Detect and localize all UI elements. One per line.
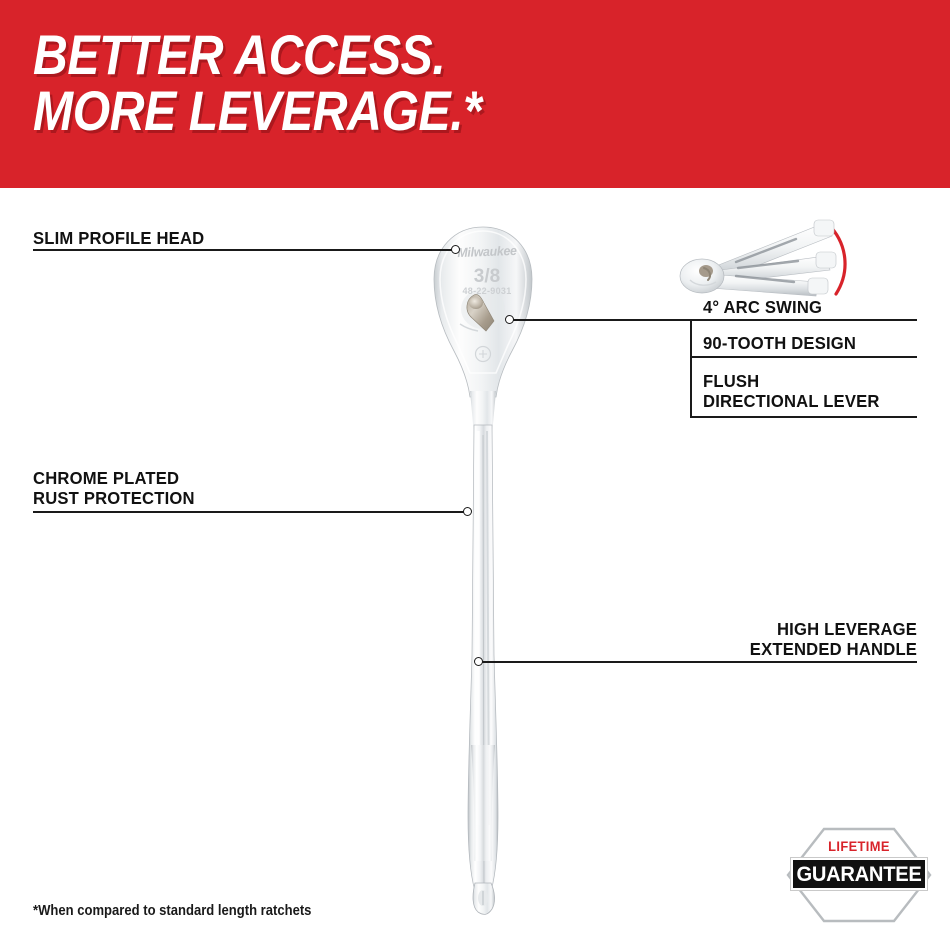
badge-guarantee-text: GUARANTEE [796, 860, 923, 892]
leader-line-arc-swing [513, 319, 691, 321]
badge-lifetime-text: LIFETIME [792, 838, 926, 854]
callout-rust-protection-label: RUST PROTECTION [33, 488, 195, 508]
callout-high-leverage-label: HIGH LEVERAGE [750, 619, 917, 639]
leader-dot-high-leverage [474, 657, 483, 666]
rule-under-flush-directional-lever [690, 416, 917, 418]
leader-dot-chrome-plated [463, 507, 472, 516]
headline-line-2: MORE LEVERAGE.* [33, 83, 635, 139]
leader-line-slim-profile-head [33, 249, 455, 251]
footnote: *When compared to standard length ratche… [33, 903, 311, 919]
headline-line-1: BETTER ACCESS. [33, 27, 635, 83]
callout-high-leverage: HIGH LEVERAGE EXTENDED HANDLE [750, 619, 917, 659]
callout-chrome-plated-label: CHROME PLATED [33, 468, 195, 488]
rule-under-arc-swing [690, 319, 917, 321]
callout-slim-profile-head-label: SLIM PROFILE HEAD [33, 228, 204, 248]
callout-extended-handle-label: EXTENDED HANDLE [750, 639, 917, 659]
callout-directional-lever-label: DIRECTIONAL LEVER [703, 391, 880, 411]
callout-tooth-design-label: 90-TOOTH DESIGN [703, 333, 856, 353]
model-number-mark: 48-22-9031 [452, 286, 522, 296]
brand-mark: Milwaukee [456, 243, 517, 260]
rule-under-tooth-design [690, 356, 917, 358]
header-banner: BETTER ACCESS. MORE LEVERAGE.* [0, 0, 950, 188]
leader-line-high-leverage [482, 661, 917, 663]
right-stack-connector [690, 319, 692, 417]
callout-slim-profile-head: SLIM PROFILE HEAD [33, 228, 204, 248]
arc-swing-illustration [676, 218, 876, 300]
callout-flush-label: FLUSH [703, 371, 880, 391]
leader-dot-slim-profile-head [451, 245, 460, 254]
callout-tooth-design: 90-TOOTH DESIGN [703, 333, 856, 353]
product-infographic: BETTER ACCESS. MORE LEVERAGE.* [0, 0, 950, 951]
callout-arc-swing: 4° ARC SWING [703, 297, 822, 317]
callout-arc-swing-label: 4° ARC SWING [703, 297, 822, 317]
callout-chrome-plated: CHROME PLATED RUST PROTECTION [33, 468, 195, 508]
badge-guarantee-bar: GUARANTEE [791, 858, 927, 890]
drive-size-mark: 3/8 [455, 266, 519, 288]
ratchet-illustration [408, 225, 558, 915]
page-title: BETTER ACCESS. MORE LEVERAGE.* [33, 27, 635, 139]
callout-flush-directional-lever: FLUSH DIRECTIONAL LEVER [703, 371, 880, 411]
lifetime-guarantee-badge: LIFETIME GUARANTEE [786, 827, 932, 923]
leader-line-chrome-plated [33, 511, 467, 513]
